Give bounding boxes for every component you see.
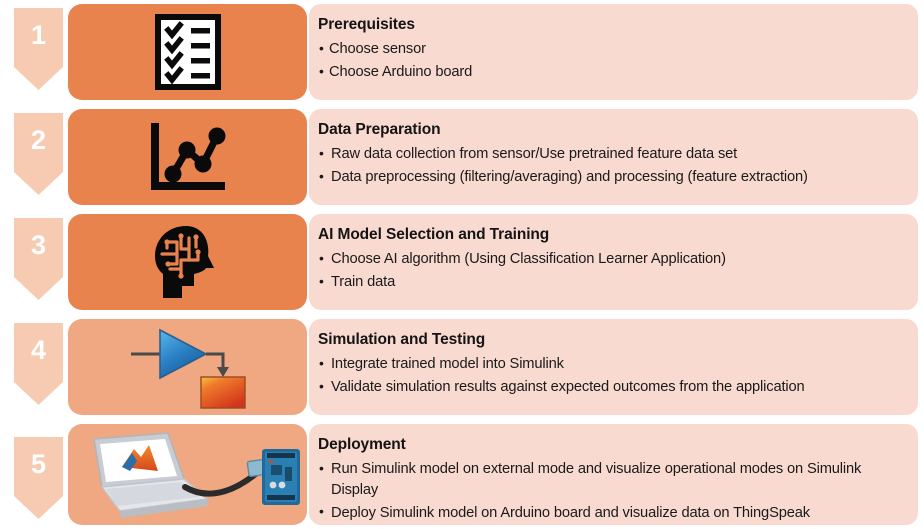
step-title-3: AI Model Selection and Training <box>318 225 904 245</box>
step-text-panel-1: Prerequisites Choose sensor Choose Ardui… <box>309 4 918 100</box>
step-number-badge-2: 2 <box>14 113 63 195</box>
bullet-item: Integrate trained model into Simulink <box>318 354 904 375</box>
bullet-item: Validate simulation results against expe… <box>318 377 904 398</box>
step-title-1: Prerequisites <box>318 15 904 35</box>
step-number-2: 2 <box>31 127 46 154</box>
ai-brain-head-icon <box>148 222 228 302</box>
step-text-panel-4: Simulation and Testing Integrate trained… <box>309 319 918 415</box>
step-number-3: 3 <box>31 232 46 259</box>
workflow-diagram: 1 <box>0 0 924 529</box>
bullet-item: Run Simulink model on external mode and … <box>318 459 904 501</box>
checklist-clipboard-icon <box>155 14 221 90</box>
step-bullets-3: Choose AI algorithm (Using Classificatio… <box>318 249 904 293</box>
step-bullets-1: Choose sensor Choose Arduino board <box>318 39 904 83</box>
bullet-item: Raw data collection from sensor/Use pret… <box>318 144 904 165</box>
step-number-4: 4 <box>31 337 46 364</box>
step-title-4: Simulation and Testing <box>318 330 904 350</box>
step-icon-tile-3 <box>68 214 307 310</box>
bullet-item: Deploy Simulink model on Arduino board a… <box>318 503 904 524</box>
step-icon-tile-1 <box>68 4 307 100</box>
line-chart-icon <box>146 119 230 195</box>
bullet-item: Train data <box>318 272 904 293</box>
bullet-item: Choose AI algorithm (Using Classificatio… <box>318 249 904 270</box>
step-icon-tile-2 <box>68 109 307 205</box>
step-title-2: Data Preparation <box>318 120 904 140</box>
step-number-1: 1 <box>31 22 46 49</box>
step-number-badge-5: 5 <box>14 437 63 519</box>
step-text-panel-2: Data Preparation Raw data collection fro… <box>309 109 918 205</box>
step-text-panel-3: AI Model Selection and Training Choose A… <box>309 214 918 310</box>
step-text-panel-5: Deployment Run Simulink model on externa… <box>309 424 918 525</box>
step-number-badge-4: 4 <box>14 323 63 405</box>
step-icon-tile-5 <box>68 424 307 525</box>
simulink-block-diagram-icon <box>113 323 263 411</box>
step-bullets-2: Raw data collection from sensor/Use pret… <box>318 144 904 188</box>
step-bullets-4: Integrate trained model into Simulink Va… <box>318 354 904 398</box>
bullet-item: Data preprocessing (filtering/averaging)… <box>318 167 904 188</box>
step-icon-tile-4 <box>68 319 307 415</box>
bullet-item: Choose sensor <box>318 39 904 60</box>
step-number-badge-3: 3 <box>14 218 63 300</box>
step-bullets-5: Run Simulink model on external mode and … <box>318 459 904 524</box>
step-title-5: Deployment <box>318 435 904 455</box>
step-number-5: 5 <box>31 451 46 478</box>
bullet-item: Choose Arduino board <box>318 62 904 83</box>
laptop-arduino-deployment-icon <box>72 427 303 522</box>
step-number-badge-1: 1 <box>14 8 63 90</box>
